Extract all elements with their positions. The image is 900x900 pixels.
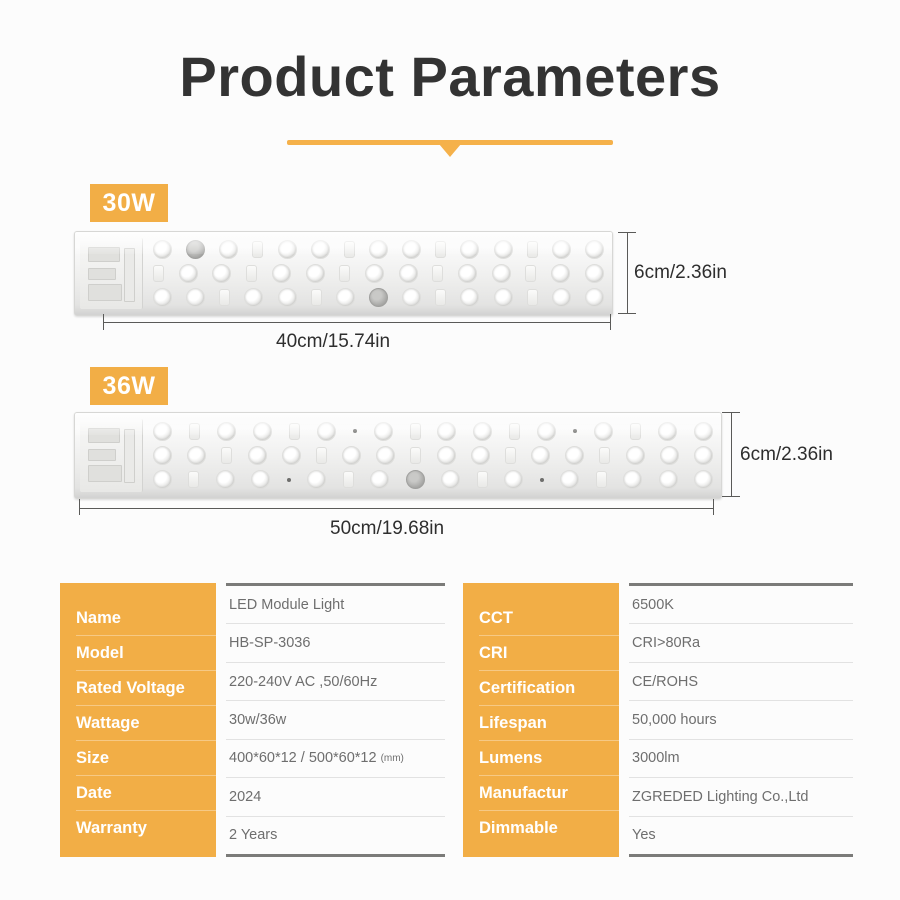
- spec-value-column: LED Module Light HB-SP-3036 220-240V AC …: [226, 583, 445, 857]
- spec-value-text: 220-240V AC ,50/60Hz: [229, 674, 377, 690]
- led-lens: [660, 446, 679, 465]
- led-slot: [477, 471, 488, 488]
- pcb-marker: [573, 429, 577, 433]
- led-slot: [219, 289, 230, 306]
- divider-arrow-icon: [439, 144, 461, 157]
- led-lens: [537, 422, 556, 441]
- mounting-screw: [186, 240, 205, 259]
- spec-value-text: HB-SP-3036: [229, 635, 310, 651]
- led-lens: [153, 446, 172, 465]
- led-slot: [153, 265, 164, 282]
- driver-component: [88, 247, 120, 262]
- led-lens: [278, 288, 297, 307]
- led-lens: [179, 264, 198, 283]
- driver-component: [88, 428, 120, 443]
- led-lens: [494, 288, 513, 307]
- page-title: Product Parameters: [0, 44, 900, 109]
- led-lens: [552, 288, 571, 307]
- led-lens: [658, 422, 677, 441]
- spec-value: 3000lm: [629, 740, 853, 778]
- driver-section: [80, 238, 143, 309]
- led-slot: [509, 423, 520, 440]
- led-lens: [594, 422, 613, 441]
- driver-component: [88, 284, 122, 301]
- spec-label: Dimmable: [479, 811, 619, 845]
- dimension-tick: [79, 499, 80, 515]
- led-slot: [527, 241, 538, 258]
- led-lens: [437, 446, 456, 465]
- led-array: [149, 238, 608, 309]
- led-lens: [460, 240, 479, 259]
- wattage-badge-30w: 30W: [90, 184, 168, 222]
- led-lens: [585, 288, 604, 307]
- led-lens: [217, 422, 236, 441]
- spec-value: 400*60*12 / 500*60*12(mm): [226, 740, 445, 778]
- led-lens: [460, 288, 479, 307]
- led-slot: [339, 265, 350, 282]
- led-lens: [219, 240, 238, 259]
- led-lens: [694, 470, 713, 489]
- led-lens: [458, 264, 477, 283]
- led-lens: [585, 264, 604, 283]
- spec-value: 30w/36w: [226, 701, 445, 739]
- spec-label: Size: [76, 741, 216, 776]
- led-lens: [659, 470, 678, 489]
- spec-label: Wattage: [76, 706, 216, 741]
- led-lens: [342, 446, 361, 465]
- led-lens: [694, 422, 713, 441]
- title-divider: [287, 140, 613, 166]
- led-slot: [527, 289, 538, 306]
- spec-label-column: CCT CRI Certification Lifespan Lumens Ma…: [463, 583, 619, 857]
- led-lens: [317, 422, 336, 441]
- driver-component: [88, 465, 122, 482]
- led-row: [149, 288, 608, 307]
- led-lens: [244, 288, 263, 307]
- spec-value-text: Yes: [632, 827, 656, 843]
- led-lens: [306, 264, 325, 283]
- led-lens: [370, 470, 389, 489]
- led-row: [149, 422, 717, 441]
- spec-value: HB-SP-3036: [226, 624, 445, 662]
- led-slot: [599, 447, 610, 464]
- led-lens: [212, 264, 231, 283]
- led-lens: [565, 446, 584, 465]
- led-lens: [441, 470, 460, 489]
- led-lens: [552, 240, 571, 259]
- led-lens: [585, 240, 604, 259]
- led-lens: [560, 470, 579, 489]
- led-module-board-30w: [74, 231, 613, 316]
- led-slot: [289, 423, 300, 440]
- led-lens: [153, 240, 172, 259]
- led-slot: [344, 241, 355, 258]
- driver-component: [124, 429, 135, 483]
- led-slot: [435, 289, 446, 306]
- led-slot: [505, 447, 516, 464]
- pcb-marker: [287, 478, 291, 482]
- led-lens: [473, 422, 492, 441]
- led-lens: [336, 288, 355, 307]
- dimension-label-width-36w: 50cm/19.68in: [330, 518, 444, 540]
- dimension-label-height-30w: 6cm/2.36in: [634, 262, 727, 284]
- led-lens: [365, 264, 384, 283]
- led-lens: [402, 288, 421, 307]
- spec-label: Date: [76, 776, 216, 811]
- spec-label: Manufactur: [479, 776, 619, 811]
- led-slot: [432, 265, 443, 282]
- led-lens: [272, 264, 291, 283]
- spec-value-text: LED Module Light: [229, 597, 344, 613]
- spec-label: Lifespan: [479, 706, 619, 741]
- dimension-line-width-30w: [103, 322, 611, 323]
- led-lens: [251, 470, 270, 489]
- spec-value: LED Module Light: [226, 586, 445, 624]
- led-slot: [630, 423, 641, 440]
- spec-value-text: CE/ROHS: [632, 674, 698, 690]
- driver-component: [124, 248, 135, 302]
- spec-label: Warranty: [76, 811, 216, 845]
- dimension-tick: [713, 499, 714, 515]
- led-lens: [471, 446, 490, 465]
- led-lens: [253, 422, 272, 441]
- led-module-board-36w: [74, 412, 722, 499]
- spec-label: CRI: [479, 636, 619, 671]
- led-lens: [376, 446, 395, 465]
- led-slot: [410, 423, 421, 440]
- spec-label-column: Name Model Rated Voltage Wattage Size Da…: [60, 583, 216, 857]
- spec-label: Model: [76, 636, 216, 671]
- led-lens: [623, 470, 642, 489]
- led-lens: [216, 470, 235, 489]
- spec-label: Name: [76, 601, 216, 636]
- led-lens: [278, 240, 297, 259]
- led-lens: [282, 446, 301, 465]
- spec-value: 6500K: [629, 586, 853, 624]
- led-lens: [307, 470, 326, 489]
- spec-label: Certification: [479, 671, 619, 706]
- led-lens: [694, 446, 713, 465]
- led-lens: [492, 264, 511, 283]
- led-lens: [153, 470, 172, 489]
- led-slot: [596, 471, 607, 488]
- led-lens: [311, 240, 330, 259]
- spec-value: 2 Years: [226, 817, 445, 854]
- led-slot: [435, 241, 446, 258]
- wattage-badge-36w: 36W: [90, 367, 168, 405]
- led-lens: [551, 264, 570, 283]
- led-slot: [188, 471, 199, 488]
- spec-value-text: 6500K: [632, 597, 674, 613]
- led-slot: [343, 471, 354, 488]
- led-row: [149, 470, 717, 489]
- pcb-marker: [353, 429, 357, 433]
- led-lens: [399, 264, 418, 283]
- led-array: [149, 419, 717, 492]
- dimension-line-width-36w: [79, 508, 714, 509]
- driver-component: [88, 449, 116, 461]
- spec-label: Rated Voltage: [76, 671, 216, 706]
- spec-label: CCT: [479, 601, 619, 636]
- spec-value: ZGREDED Lighting Co.,Ltd: [629, 778, 853, 816]
- led-slot: [221, 447, 232, 464]
- spec-value-text: 3000lm: [632, 750, 680, 766]
- led-slot: [246, 265, 257, 282]
- led-lens: [437, 422, 456, 441]
- spec-table-right: CCT CRI Certification Lifespan Lumens Ma…: [463, 583, 853, 857]
- product-parameters-infographic: Product Parameters 30W: [0, 0, 900, 900]
- led-lens: [248, 446, 267, 465]
- led-lens: [626, 446, 645, 465]
- spec-value: 220-240V AC ,50/60Hz: [226, 663, 445, 701]
- led-row: [149, 240, 608, 259]
- led-slot: [316, 447, 327, 464]
- spec-label: Lumens: [479, 741, 619, 776]
- spec-value: CE/ROHS: [629, 663, 853, 701]
- led-row: [149, 264, 608, 283]
- led-row: [149, 446, 717, 465]
- led-lens: [153, 422, 172, 441]
- led-slot: [410, 447, 421, 464]
- spec-value: CRI>80Ra: [629, 624, 853, 662]
- dimension-line-height-30w: [627, 232, 628, 314]
- spec-value: 50,000 hours: [629, 701, 853, 739]
- led-lens: [374, 422, 393, 441]
- dimension-label-width-30w: 40cm/15.74in: [276, 331, 390, 353]
- spec-value-unit: (mm): [381, 753, 404, 764]
- led-lens: [531, 446, 550, 465]
- dimension-line-height-36w: [731, 412, 732, 497]
- mounting-screw: [406, 470, 425, 489]
- pcb-marker: [540, 478, 544, 482]
- led-lens: [402, 240, 421, 259]
- led-lens: [369, 240, 388, 259]
- led-lens: [494, 240, 513, 259]
- led-lens: [153, 288, 172, 307]
- led-slot: [252, 241, 263, 258]
- led-slot: [311, 289, 322, 306]
- led-lens: [187, 446, 206, 465]
- driver-section: [80, 419, 143, 492]
- spec-value-text: 400*60*12 / 500*60*12: [229, 750, 377, 766]
- spec-value-text: 50,000 hours: [632, 712, 717, 728]
- led-slot: [525, 265, 536, 282]
- driver-component: [88, 268, 116, 280]
- spec-value-text: ZGREDED Lighting Co.,Ltd: [632, 789, 809, 805]
- spec-value-column: 6500K CRI>80Ra CE/ROHS 50,000 hours 3000…: [629, 583, 853, 857]
- spec-value-text: 2024: [229, 789, 261, 805]
- spec-value-text: CRI>80Ra: [632, 635, 700, 651]
- led-slot: [189, 423, 200, 440]
- spec-value-text: 30w/36w: [229, 712, 286, 728]
- spec-value: 2024: [226, 778, 445, 816]
- led-lens: [186, 288, 205, 307]
- spec-table-left: Name Model Rated Voltage Wattage Size Da…: [60, 583, 445, 857]
- led-lens: [504, 470, 523, 489]
- spec-value: Yes: [629, 817, 853, 854]
- dimension-label-height-36w: 6cm/2.36in: [740, 444, 833, 466]
- spec-value-text: 2 Years: [229, 827, 277, 843]
- mounting-screw: [369, 288, 388, 307]
